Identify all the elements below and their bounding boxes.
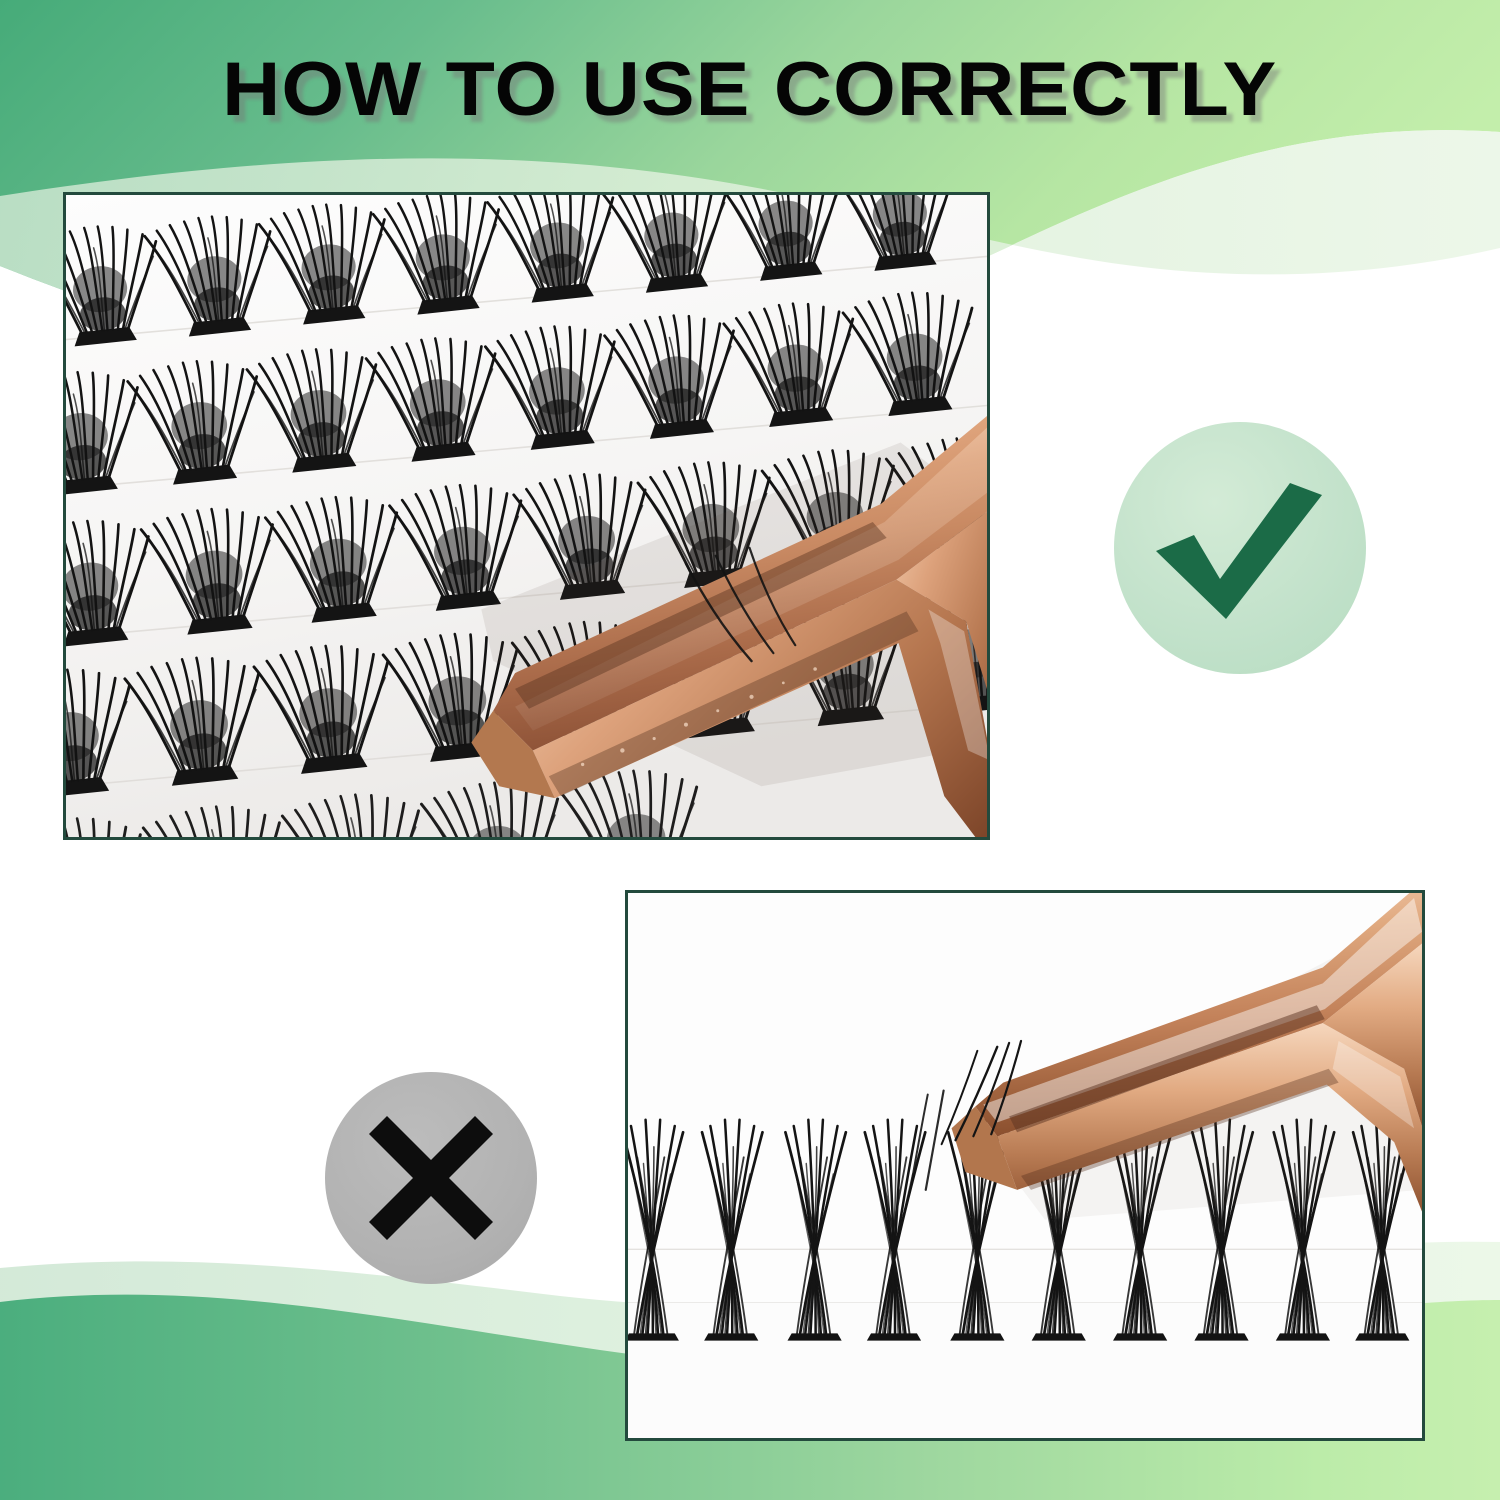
- page-title: HOW TO USE CORRECTLY: [222, 52, 1277, 128]
- check-mark-glyph: [1150, 473, 1330, 623]
- cross-icon: [325, 1072, 537, 1284]
- correct-usage-photo: [63, 192, 990, 840]
- check-icon: [1114, 422, 1366, 674]
- incorrect-usage-photo: [625, 890, 1425, 1441]
- page-title-container: HOW TO USE CORRECTLY: [0, 52, 1500, 128]
- lash-tray-topview-illustration: [66, 195, 987, 837]
- lash-side-view-illustration: [628, 893, 1422, 1438]
- infographic-page: HOW TO USE CORRECTLY: [0, 0, 1500, 1500]
- cross-mark-glyph: [365, 1112, 497, 1244]
